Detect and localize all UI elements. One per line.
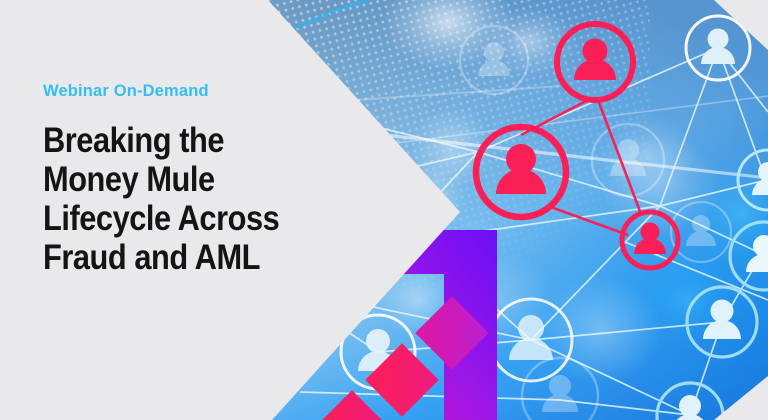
eyebrow-label: Webinar On-Demand [43,82,373,100]
headline-line-2: Money Mule [43,161,333,200]
webinar-banner: Webinar On-Demand Breaking the Money Mul… [0,0,768,420]
headline-line-1: Breaking the [43,122,333,161]
headline-block: Webinar On-Demand Breaking the Money Mul… [43,82,373,278]
page-title: Breaking the Money Mule Lifecycle Across… [43,122,333,277]
headline-line-4: Fraud and AML [43,239,333,278]
headline-line-3: Lifecycle Across [43,200,333,239]
